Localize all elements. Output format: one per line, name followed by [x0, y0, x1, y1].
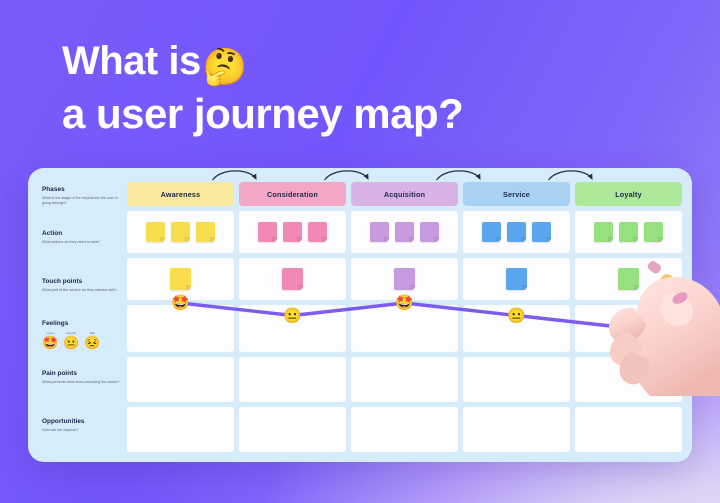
row-label-phases-title: Phases — [42, 186, 124, 193]
row-label-opportunities-sub: How can we improve? — [42, 428, 124, 434]
action-cell[interactable] — [239, 211, 346, 253]
thinking-face-icon: 🤔 — [203, 46, 247, 87]
page-title: What is🤔 a user journey map? — [62, 40, 582, 136]
sticky-note[interactable] — [619, 222, 638, 242]
phase-header-awareness[interactable]: Awareness — [127, 182, 234, 206]
opportunities-cell[interactable] — [575, 407, 682, 452]
journey-map-card: Phases What is the stage of the experien… — [28, 168, 692, 462]
title-text-1: What is — [62, 39, 201, 83]
sticky-note[interactable] — [594, 222, 613, 242]
feelings-cell[interactable] — [351, 305, 458, 352]
touch-point-cell[interactable] — [351, 258, 458, 300]
feelings-legend-neutral: Neutral 😐 — [63, 331, 79, 349]
phase-header-service[interactable]: Service — [463, 182, 570, 206]
journey-columns: AwarenessConsiderationAcquisitionService… — [127, 182, 682, 452]
feelings-legend: Good 🤩 Neutral 😐 Bad 😣 — [42, 331, 124, 349]
sticky-note[interactable] — [644, 222, 663, 242]
sticky-note[interactable] — [370, 222, 389, 242]
journey-column-service: Service — [463, 182, 570, 452]
row-label-opportunities-title: Opportunities — [42, 418, 124, 425]
row-label-phases-sub: What is the stage of the experience the … — [42, 196, 124, 207]
sticky-note[interactable] — [308, 222, 327, 242]
sticky-note[interactable] — [532, 222, 551, 242]
star-struck-face-icon: 🤩 — [42, 336, 58, 349]
journey-column-consideration: Consideration — [239, 182, 346, 452]
journey-column-awareness: Awareness — [127, 182, 234, 452]
persevering-face-icon: 😣 — [84, 336, 100, 349]
opportunities-cell[interactable] — [239, 407, 346, 452]
row-label-pain-points: Pain points What prevents them from exec… — [42, 370, 124, 385]
journey-column-acquisition: Acquisition — [351, 182, 458, 452]
row-label-pain-points-title: Pain points — [42, 370, 124, 377]
feelings-cell[interactable] — [239, 305, 346, 352]
journey-grid: AwarenessConsiderationAcquisitionService… — [127, 168, 692, 462]
action-cell[interactable] — [463, 211, 570, 253]
sticky-note[interactable] — [506, 268, 527, 290]
phase-header-loyalty[interactable]: Loyalty — [575, 182, 682, 206]
title-line-1: What is🤔 — [62, 40, 582, 87]
sticky-note[interactable] — [282, 268, 303, 290]
sticky-note[interactable] — [146, 222, 165, 242]
sticky-note[interactable] — [507, 222, 526, 242]
sticky-note[interactable] — [420, 222, 439, 242]
opportunities-cell[interactable] — [463, 407, 570, 452]
touch-point-cell[interactable] — [463, 258, 570, 300]
touch-point-cell[interactable] — [239, 258, 346, 300]
sticky-note[interactable] — [258, 222, 277, 242]
sticky-note[interactable] — [395, 222, 414, 242]
row-label-opportunities: Opportunities How can we improve? — [42, 418, 124, 433]
row-label-rail: Phases What is the stage of the experien… — [28, 168, 127, 462]
sticky-note[interactable] — [283, 222, 302, 242]
sticky-note[interactable] — [196, 222, 215, 242]
title-line-2: a user journey map? — [62, 91, 582, 136]
pain-points-cell[interactable] — [463, 357, 570, 402]
row-label-action-title: Action — [42, 230, 124, 237]
journey-column-loyalty: Loyalty — [575, 182, 682, 452]
row-label-touch-points-sub: What part of the service do they interac… — [42, 288, 124, 294]
action-cell[interactable] — [575, 211, 682, 253]
row-label-pain-points-sub: What prevents them from executing the ac… — [42, 380, 124, 386]
row-label-phases: Phases What is the stage of the experien… — [42, 186, 124, 207]
neutral-face-icon: 😐 — [63, 336, 79, 349]
feelings-legend-good: Good 🤩 — [42, 331, 58, 349]
action-cell[interactable] — [351, 211, 458, 253]
sticky-note[interactable] — [618, 268, 639, 290]
feelings-cell[interactable] — [463, 305, 570, 352]
row-label-feelings-title: Feelings — [42, 320, 124, 327]
pain-points-cell[interactable] — [127, 357, 234, 402]
pain-points-cell[interactable] — [575, 357, 682, 402]
sticky-note[interactable] — [170, 268, 191, 290]
row-label-touch-points-title: Touch points — [42, 278, 124, 285]
feelings-cell[interactable] — [127, 305, 234, 352]
row-label-action-sub: What actions do they need to take? — [42, 240, 124, 246]
touch-point-cell[interactable] — [575, 258, 682, 300]
opportunities-cell[interactable] — [351, 407, 458, 452]
action-cell[interactable] — [127, 211, 234, 253]
pain-points-cell[interactable] — [239, 357, 346, 402]
touch-point-cell[interactable] — [127, 258, 234, 300]
feelings-cell[interactable] — [575, 305, 682, 352]
opportunities-cell[interactable] — [127, 407, 234, 452]
pain-points-cell[interactable] — [351, 357, 458, 402]
feelings-legend-bad: Bad 😣 — [84, 331, 100, 349]
sticky-note[interactable] — [171, 222, 190, 242]
sticky-note[interactable] — [394, 268, 415, 290]
phase-header-consideration[interactable]: Consideration — [239, 182, 346, 206]
row-label-action: Action What actions do they need to take… — [42, 230, 124, 245]
phase-header-acquisition[interactable]: Acquisition — [351, 182, 458, 206]
row-label-feelings: Feelings Good 🤩 Neutral 😐 Bad 😣 — [42, 320, 124, 349]
row-label-touch-points: Touch points What part of the service do… — [42, 278, 124, 293]
sticky-note[interactable] — [482, 222, 501, 242]
